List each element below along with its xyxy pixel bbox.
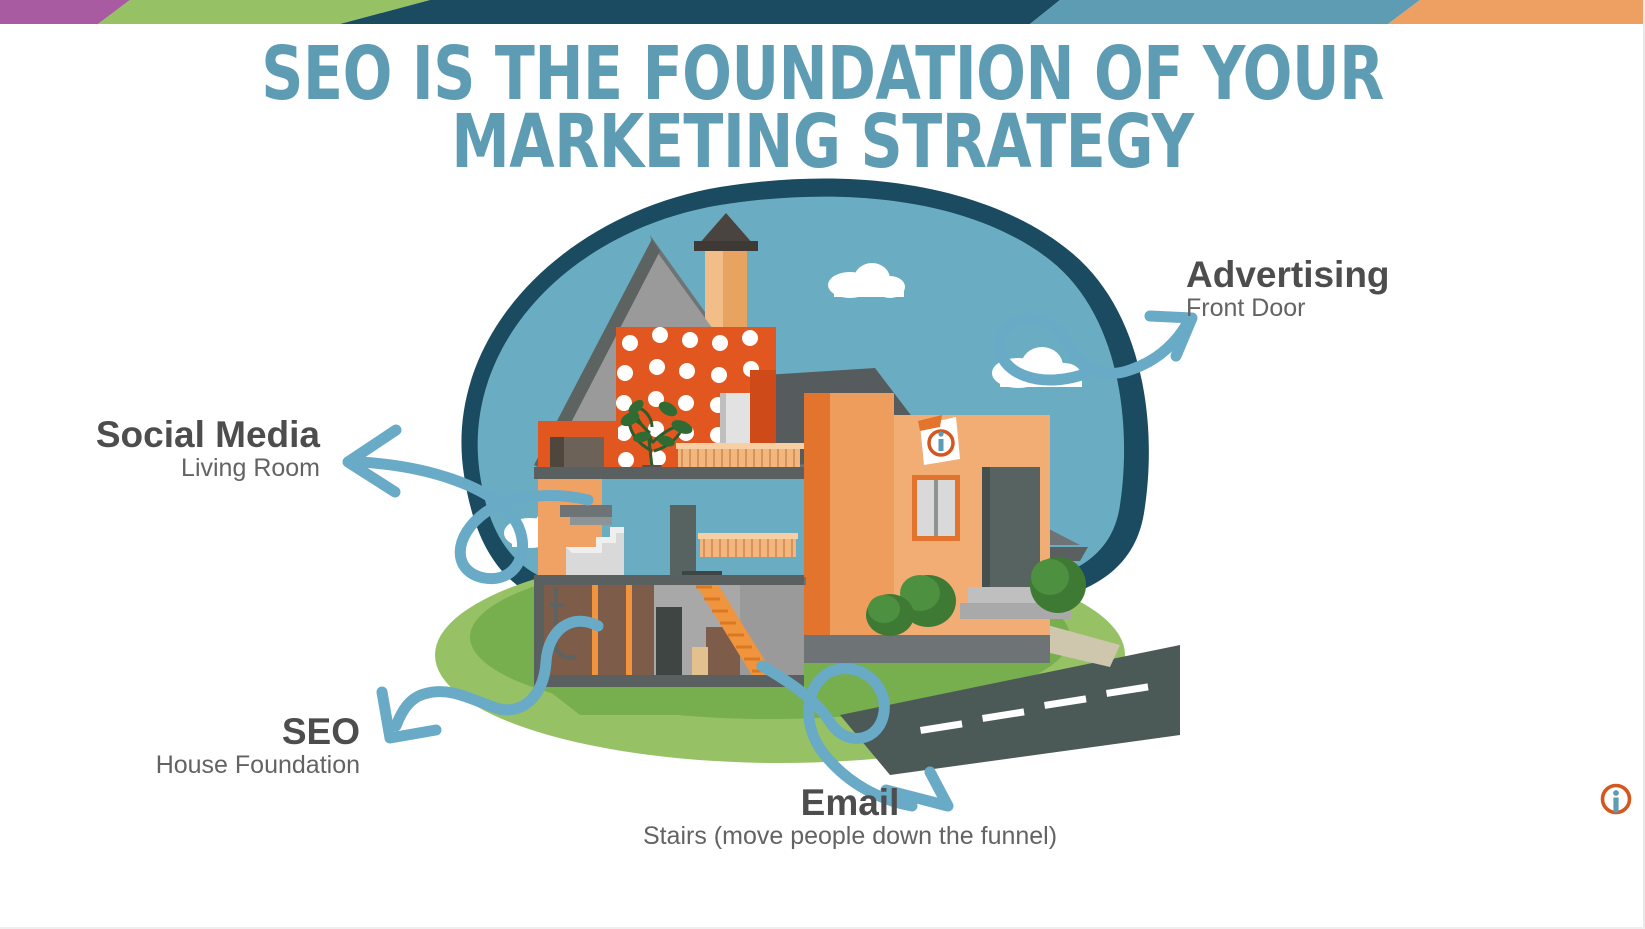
cutaway-house-illustration	[420, 175, 1180, 875]
callout-social-media-heading: Social Media	[64, 415, 320, 454]
callout-social-media: Social Media Living Room	[64, 415, 320, 483]
arrow-social-head	[348, 430, 396, 492]
callout-advertising-subtext: Front Door	[1186, 294, 1390, 323]
callout-seo: SEO House Foundation	[60, 712, 360, 780]
top-banner	[0, 0, 1645, 24]
title-line-2: MARKETING STRATEGY	[99, 108, 1547, 176]
banner-segment-navy	[340, 0, 1060, 24]
page-title: SEO IS THE FOUNDATION OF YOUR MARKETING …	[0, 40, 1645, 176]
callout-email-subtext: Stairs (move people down the funnel)	[620, 822, 1080, 851]
banner-segment-blue	[1030, 0, 1420, 24]
basement-box	[656, 607, 682, 677]
slide-canvas: SEO IS THE FOUNDATION OF YOUR MARKETING …	[0, 0, 1645, 929]
callout-seo-heading: SEO	[60, 712, 360, 751]
ground-shadow	[544, 687, 820, 715]
callout-advertising-heading: Advertising	[1186, 255, 1390, 294]
facade-window	[912, 475, 960, 541]
basement	[534, 571, 806, 687]
basement-box	[692, 647, 708, 677]
logo-dot-icon	[1613, 790, 1619, 796]
info-circle-logo	[1598, 778, 1634, 818]
banner-segment-orange	[1388, 0, 1645, 24]
floor-slab-upper	[534, 467, 804, 479]
callout-social-media-subtext: Living Room	[64, 454, 320, 483]
callout-seo-subtext: House Foundation	[60, 751, 360, 780]
callout-advertising: Advertising Front Door	[1186, 255, 1390, 323]
callout-email: Email Stairs (move people down the funne…	[620, 783, 1080, 851]
yard-sign	[918, 415, 960, 465]
callout-email-heading: Email	[620, 783, 1080, 822]
interior-door	[670, 505, 696, 575]
attic-railing	[676, 443, 804, 469]
logo-stem-icon	[1613, 798, 1618, 813]
title-line-1: SEO IS THE FOUNDATION OF YOUR	[99, 40, 1547, 108]
